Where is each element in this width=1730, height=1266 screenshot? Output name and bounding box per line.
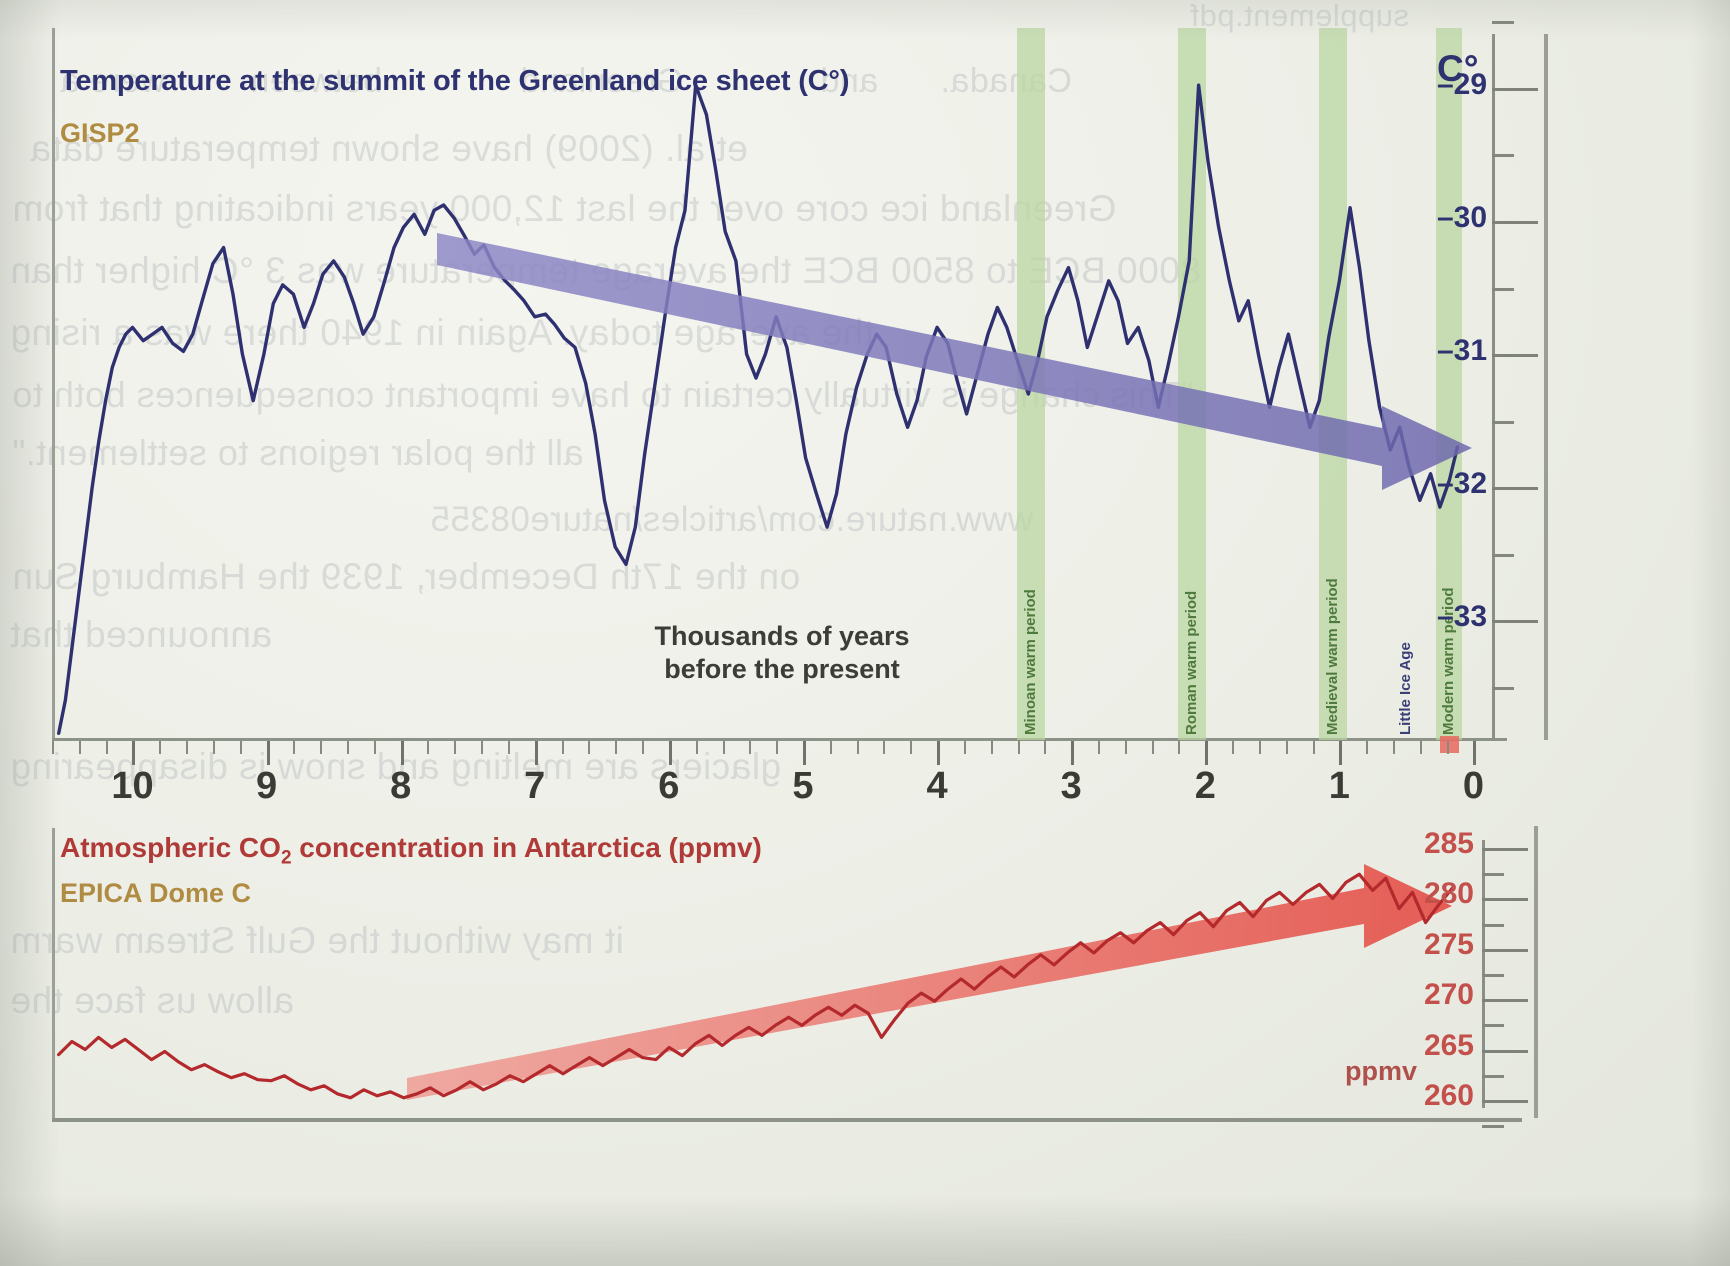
x-minor-tick <box>776 741 778 754</box>
x-minor-tick <box>374 741 376 754</box>
co2-tick-label: 285 <box>1412 827 1474 861</box>
co2-tick-label: 275 <box>1412 928 1474 962</box>
temperature-major-tick <box>1492 487 1538 490</box>
x-minor-tick <box>562 741 564 754</box>
temperature-tick-label: –30 <box>1437 201 1487 235</box>
x-major-tick <box>803 741 806 765</box>
temperature-minor-tick <box>1492 687 1514 690</box>
co2-minor-tick <box>1482 873 1504 876</box>
x-tick-label: 1 <box>1329 765 1350 808</box>
temperature-trend-arrow <box>437 233 1472 490</box>
co2-minor-tick <box>1482 1024 1504 1027</box>
x-major-tick <box>669 741 672 765</box>
co2-tick-label: 270 <box>1412 978 1474 1012</box>
temperature-tick-label: –29 <box>1437 68 1487 102</box>
co2-minor-tick <box>1482 974 1504 977</box>
x-minor-tick <box>1420 741 1422 754</box>
co2-y-scale <box>1482 840 1538 1110</box>
co2-tick-label: 265 <box>1412 1029 1474 1063</box>
x-minor-tick <box>159 741 161 754</box>
x-minor-tick <box>696 741 698 754</box>
x-minor-tick <box>1125 741 1127 754</box>
x-axis-ticks <box>52 741 1507 767</box>
x-minor-tick <box>588 741 590 754</box>
x-minor-tick <box>293 741 295 754</box>
temperature-tick-label: –33 <box>1437 600 1487 634</box>
x-major-tick <box>1205 741 1208 765</box>
x-minor-tick <box>749 741 751 754</box>
co2-curve <box>59 874 1453 1098</box>
co2-minor-tick <box>1482 924 1504 927</box>
temperature-minor-tick <box>1492 21 1514 24</box>
x-minor-tick <box>910 741 912 754</box>
temperature-tick-label: –31 <box>1437 334 1487 368</box>
x-minor-tick <box>320 741 322 754</box>
x-minor-tick <box>347 741 349 754</box>
x-tick-label: 3 <box>1061 765 1082 808</box>
x-major-tick <box>132 741 135 765</box>
x-minor-tick <box>106 741 108 754</box>
co2-major-tick <box>1482 848 1528 851</box>
x-tick-label: 6 <box>658 765 679 808</box>
x-major-tick <box>937 741 940 765</box>
co2-major-tick <box>1482 999 1528 1002</box>
x-minor-tick <box>1152 741 1154 754</box>
co2-minor-tick <box>1482 1125 1504 1128</box>
temperature-minor-tick <box>1492 421 1514 424</box>
co2-trend-arrow <box>407 864 1452 1100</box>
x-minor-tick <box>1259 741 1261 754</box>
temperature-minor-tick <box>1492 154 1514 157</box>
co2-minor-tick <box>1482 1075 1504 1078</box>
temperature-minor-tick <box>1492 288 1514 291</box>
x-minor-tick <box>1232 741 1234 754</box>
co2-major-tick <box>1482 1100 1528 1103</box>
co2-unit-label: ppmv <box>1345 1056 1417 1087</box>
temperature-y-scale <box>1492 34 1547 740</box>
x-minor-tick <box>723 741 725 754</box>
co2-major-tick <box>1482 898 1528 901</box>
x-major-tick <box>401 741 404 765</box>
co2-line-chart <box>52 828 1492 1120</box>
x-tick-label: 8 <box>390 765 411 808</box>
x-tick-label: 7 <box>524 765 545 808</box>
x-minor-tick <box>1018 741 1020 754</box>
x-minor-tick <box>186 741 188 754</box>
co2-tick-label: 260 <box>1412 1079 1474 1113</box>
temperature-major-tick <box>1492 354 1538 357</box>
x-minor-tick <box>857 741 859 754</box>
x-minor-tick <box>642 741 644 754</box>
scanned-page: supplement.pdfwere abetweenGreenlandandC… <box>0 0 1730 1266</box>
x-minor-tick <box>1178 741 1180 754</box>
x-minor-tick <box>991 741 993 754</box>
co2-major-tick <box>1482 1050 1528 1053</box>
x-minor-tick <box>454 741 456 754</box>
x-tick-label: 4 <box>926 765 947 808</box>
x-minor-tick <box>508 741 510 754</box>
x-tick-label: 10 <box>111 765 153 808</box>
temperature-major-tick <box>1492 620 1538 623</box>
x-minor-tick <box>1286 741 1288 754</box>
x-minor-tick <box>1313 741 1315 754</box>
x-minor-tick <box>964 741 966 754</box>
x-major-tick <box>1473 741 1476 765</box>
temperature-major-tick <box>1492 221 1538 224</box>
x-minor-tick <box>52 741 54 754</box>
x-major-tick <box>535 741 538 765</box>
x-tick-label: 0 <box>1463 765 1484 808</box>
x-minor-tick <box>79 741 81 754</box>
climate-figure: Minoan warm periodRoman warm periodMedie… <box>12 10 1712 1140</box>
temperature-major-tick <box>1492 88 1538 91</box>
x-major-tick <box>1339 741 1342 765</box>
temperature-minor-tick <box>1492 554 1514 557</box>
co2-scale-outer-bar <box>1534 826 1538 1118</box>
temperature-tick-label: –32 <box>1437 467 1487 501</box>
x-major-tick <box>1071 741 1074 765</box>
x-minor-tick <box>213 741 215 754</box>
x-minor-tick <box>1044 741 1046 754</box>
temperature-line-chart <box>52 28 1507 740</box>
x-minor-tick <box>1447 741 1449 754</box>
temperature-scale-bar <box>1492 34 1495 740</box>
x-minor-tick <box>240 741 242 754</box>
x-minor-tick <box>1366 741 1368 754</box>
co2-major-tick <box>1482 949 1528 952</box>
x-minor-tick <box>1393 741 1395 754</box>
x-major-tick <box>267 741 270 765</box>
x-tick-label: 5 <box>792 765 813 808</box>
x-minor-tick <box>883 741 885 754</box>
co2-tick-label: 280 <box>1412 877 1474 911</box>
x-minor-tick <box>1098 741 1100 754</box>
x-tick-label: 9 <box>256 765 277 808</box>
x-minor-tick <box>615 741 617 754</box>
x-minor-tick <box>830 741 832 754</box>
x-minor-tick <box>427 741 429 754</box>
x-minor-tick <box>481 741 483 754</box>
x-tick-label: 2 <box>1195 765 1216 808</box>
temperature-scale-outer-bar <box>1544 34 1548 740</box>
